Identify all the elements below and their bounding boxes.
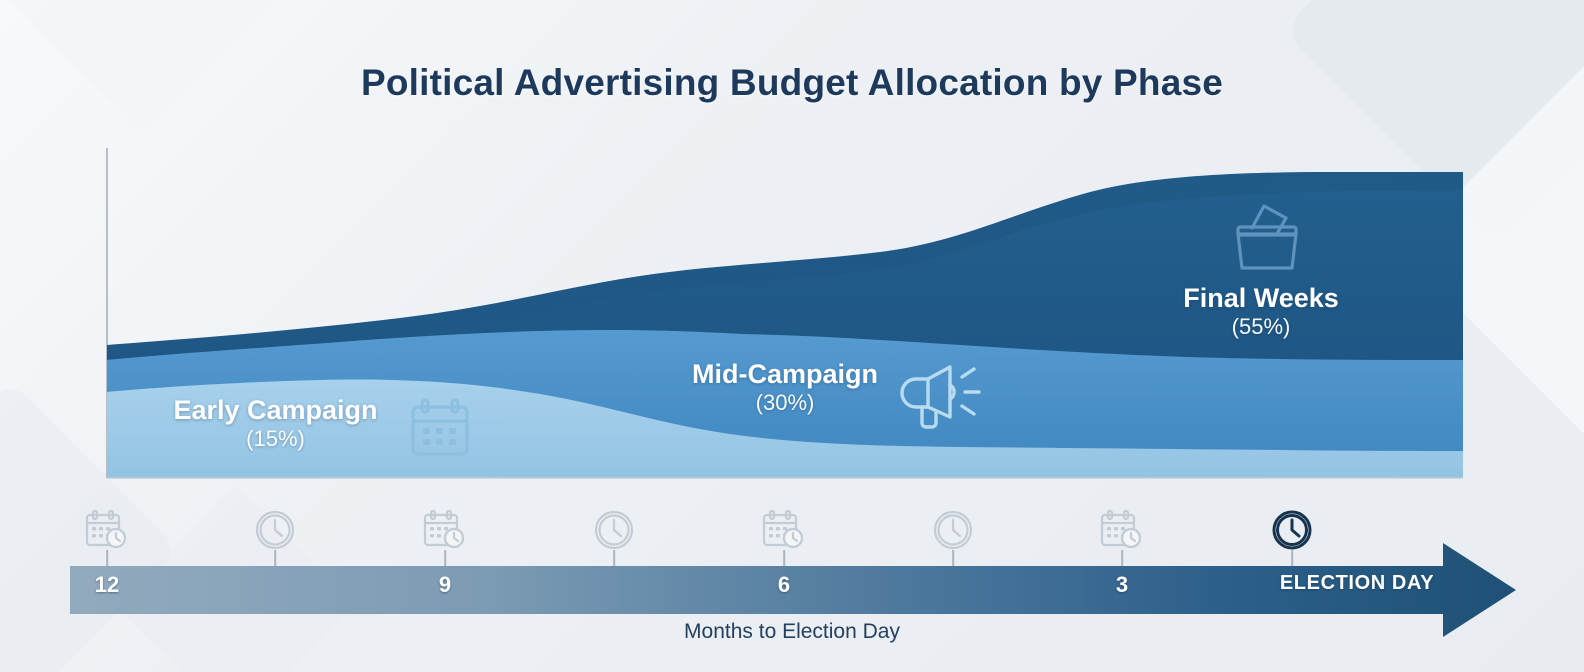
timeline-tick-label: ELECTION DAY [1280,572,1434,595]
timeline-tick-stem [106,550,108,566]
timeline-tick-stem [783,550,785,566]
axis-caption: Months to Election Day [0,620,1584,644]
timeline-tick-label: 6 [778,572,790,598]
timeline-tick-stem [613,550,615,566]
timeline-tick-stem [1291,550,1293,566]
timeline-tick-label: 3 [1116,572,1128,598]
timeline-tick-stem [274,550,276,566]
timeline-tick-stem [952,550,954,566]
timeline-tick-stem [444,550,446,566]
timeline-tick-label: 9 [439,572,451,598]
timeline-tick-label: 12 [95,572,119,598]
timeline-tick-stem [1121,550,1123,566]
infographic-canvas: Political Advertising Budget Allocation … [0,0,1584,672]
